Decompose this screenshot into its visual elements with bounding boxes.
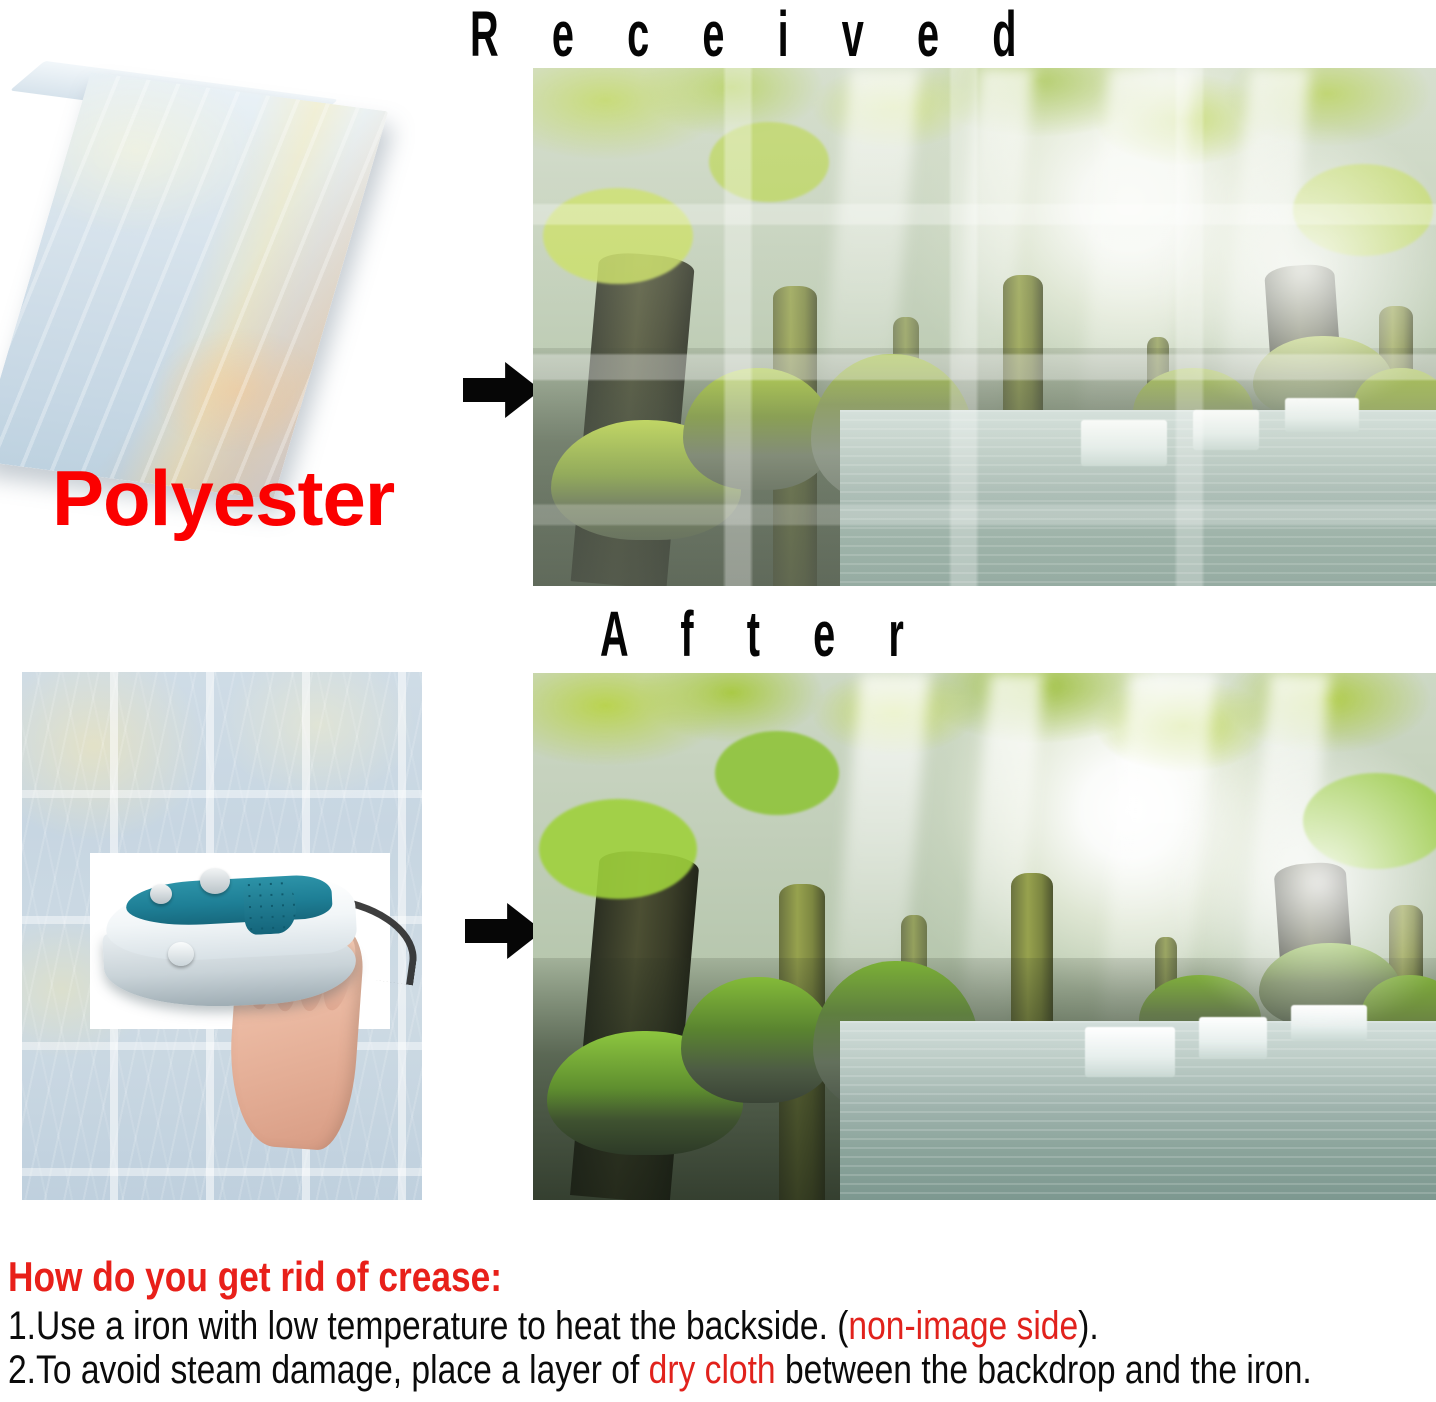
leaf-clump [715,731,839,815]
instruction-1-suffix: ). [1078,1304,1099,1348]
fabric-roll-body [0,72,388,499]
leaf-clump [709,122,829,202]
instruction-1-highlight: non-image side [848,1304,1078,1348]
infographic-root: R e c e i v e d Polyester [0,0,1436,1402]
after-photo [533,673,1436,1200]
arrow-shaft [465,919,510,944]
fabric-roll-photo [18,78,428,508]
leaf-clump [539,799,697,899]
leaf-clump [543,188,693,284]
waterfall [1193,410,1259,450]
right-arrow-icon-after [465,903,543,959]
right-arrow-icon-received [463,362,541,418]
instruction-2-prefix: 2.To avoid steam damage, place a layer o… [8,1348,649,1392]
instructions-title: How do you get rid of crease: [8,1256,502,1298]
polyester-label: Polyester [52,459,394,537]
received-photo [533,68,1436,586]
instruction-line-2: 2.To avoid steam damage, place a layer o… [8,1350,1312,1390]
waterfall [1085,1027,1175,1077]
waterfall [1199,1017,1267,1059]
waterfall [1081,420,1167,466]
instruction-2-highlight: dry cloth [649,1348,776,1392]
instruction-1-prefix: 1.Use a iron with low temperature to hea… [8,1304,848,1348]
iron-spray-button [168,942,194,966]
mossy-rock [681,977,835,1103]
arrow-shaft [463,378,508,403]
instruction-line-1: 1.Use a iron with low temperature to hea… [8,1306,1099,1346]
after-heading: A f t e r [600,602,925,666]
received-heading: R e c e i v e d [470,2,1038,66]
iron-steam-knob [200,868,230,894]
instruction-2-suffix: between the backdrop and the iron. [776,1348,1312,1392]
iron-temperature-knob [150,884,172,904]
